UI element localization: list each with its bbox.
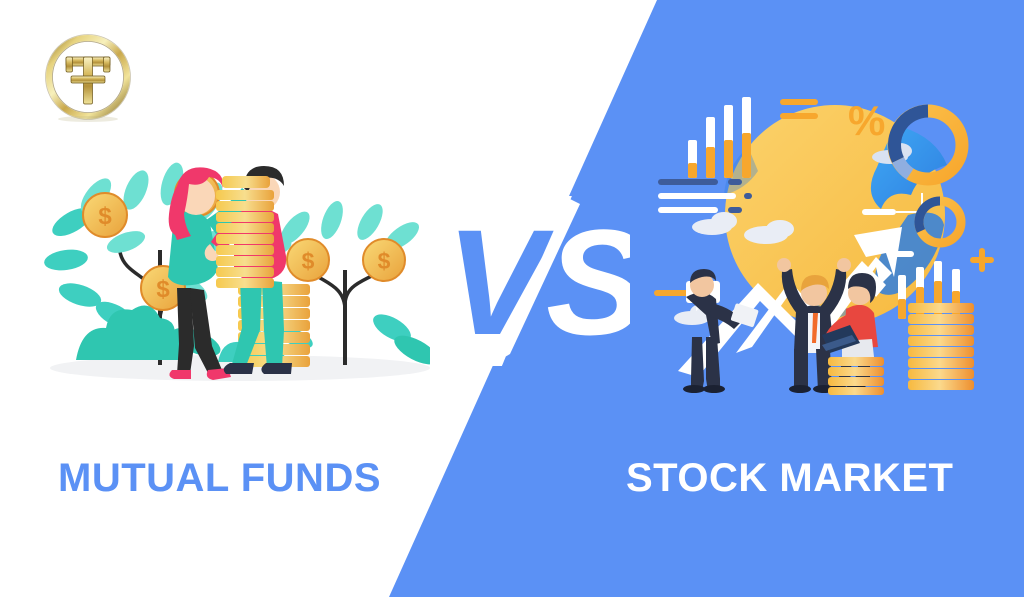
svg-text:$: $ bbox=[156, 276, 170, 303]
svg-text:$: $ bbox=[302, 248, 315, 274]
stock-market-scene: % bbox=[640, 85, 1010, 395]
mutual-funds-title: MUTUAL FUNDS bbox=[58, 458, 381, 498]
coin-stack-held bbox=[216, 176, 274, 288]
svg-text:$: $ bbox=[378, 248, 391, 274]
percent-symbol: % bbox=[848, 97, 885, 144]
svg-text:%: % bbox=[848, 97, 885, 144]
plus-symbol bbox=[970, 248, 994, 272]
brand-logo[interactable] bbox=[44, 33, 132, 123]
versus-badge: VS VS bbox=[440, 196, 630, 366]
svg-text:$: $ bbox=[98, 203, 112, 230]
stock-market-illustration: % bbox=[640, 85, 1010, 400]
versus-banner: $ $ $ bbox=[0, 0, 1024, 597]
coin-stack-large bbox=[908, 303, 974, 390]
stock-market-title: STOCK MARKET bbox=[626, 458, 953, 498]
monogram-logo-icon bbox=[44, 33, 132, 123]
versus-graphic: VS VS bbox=[440, 196, 630, 366]
money-tree-illustration: $ $ $ bbox=[40, 160, 430, 400]
money-tree-scene: $ $ $ bbox=[40, 160, 430, 395]
coin-stack-small bbox=[828, 357, 884, 395]
